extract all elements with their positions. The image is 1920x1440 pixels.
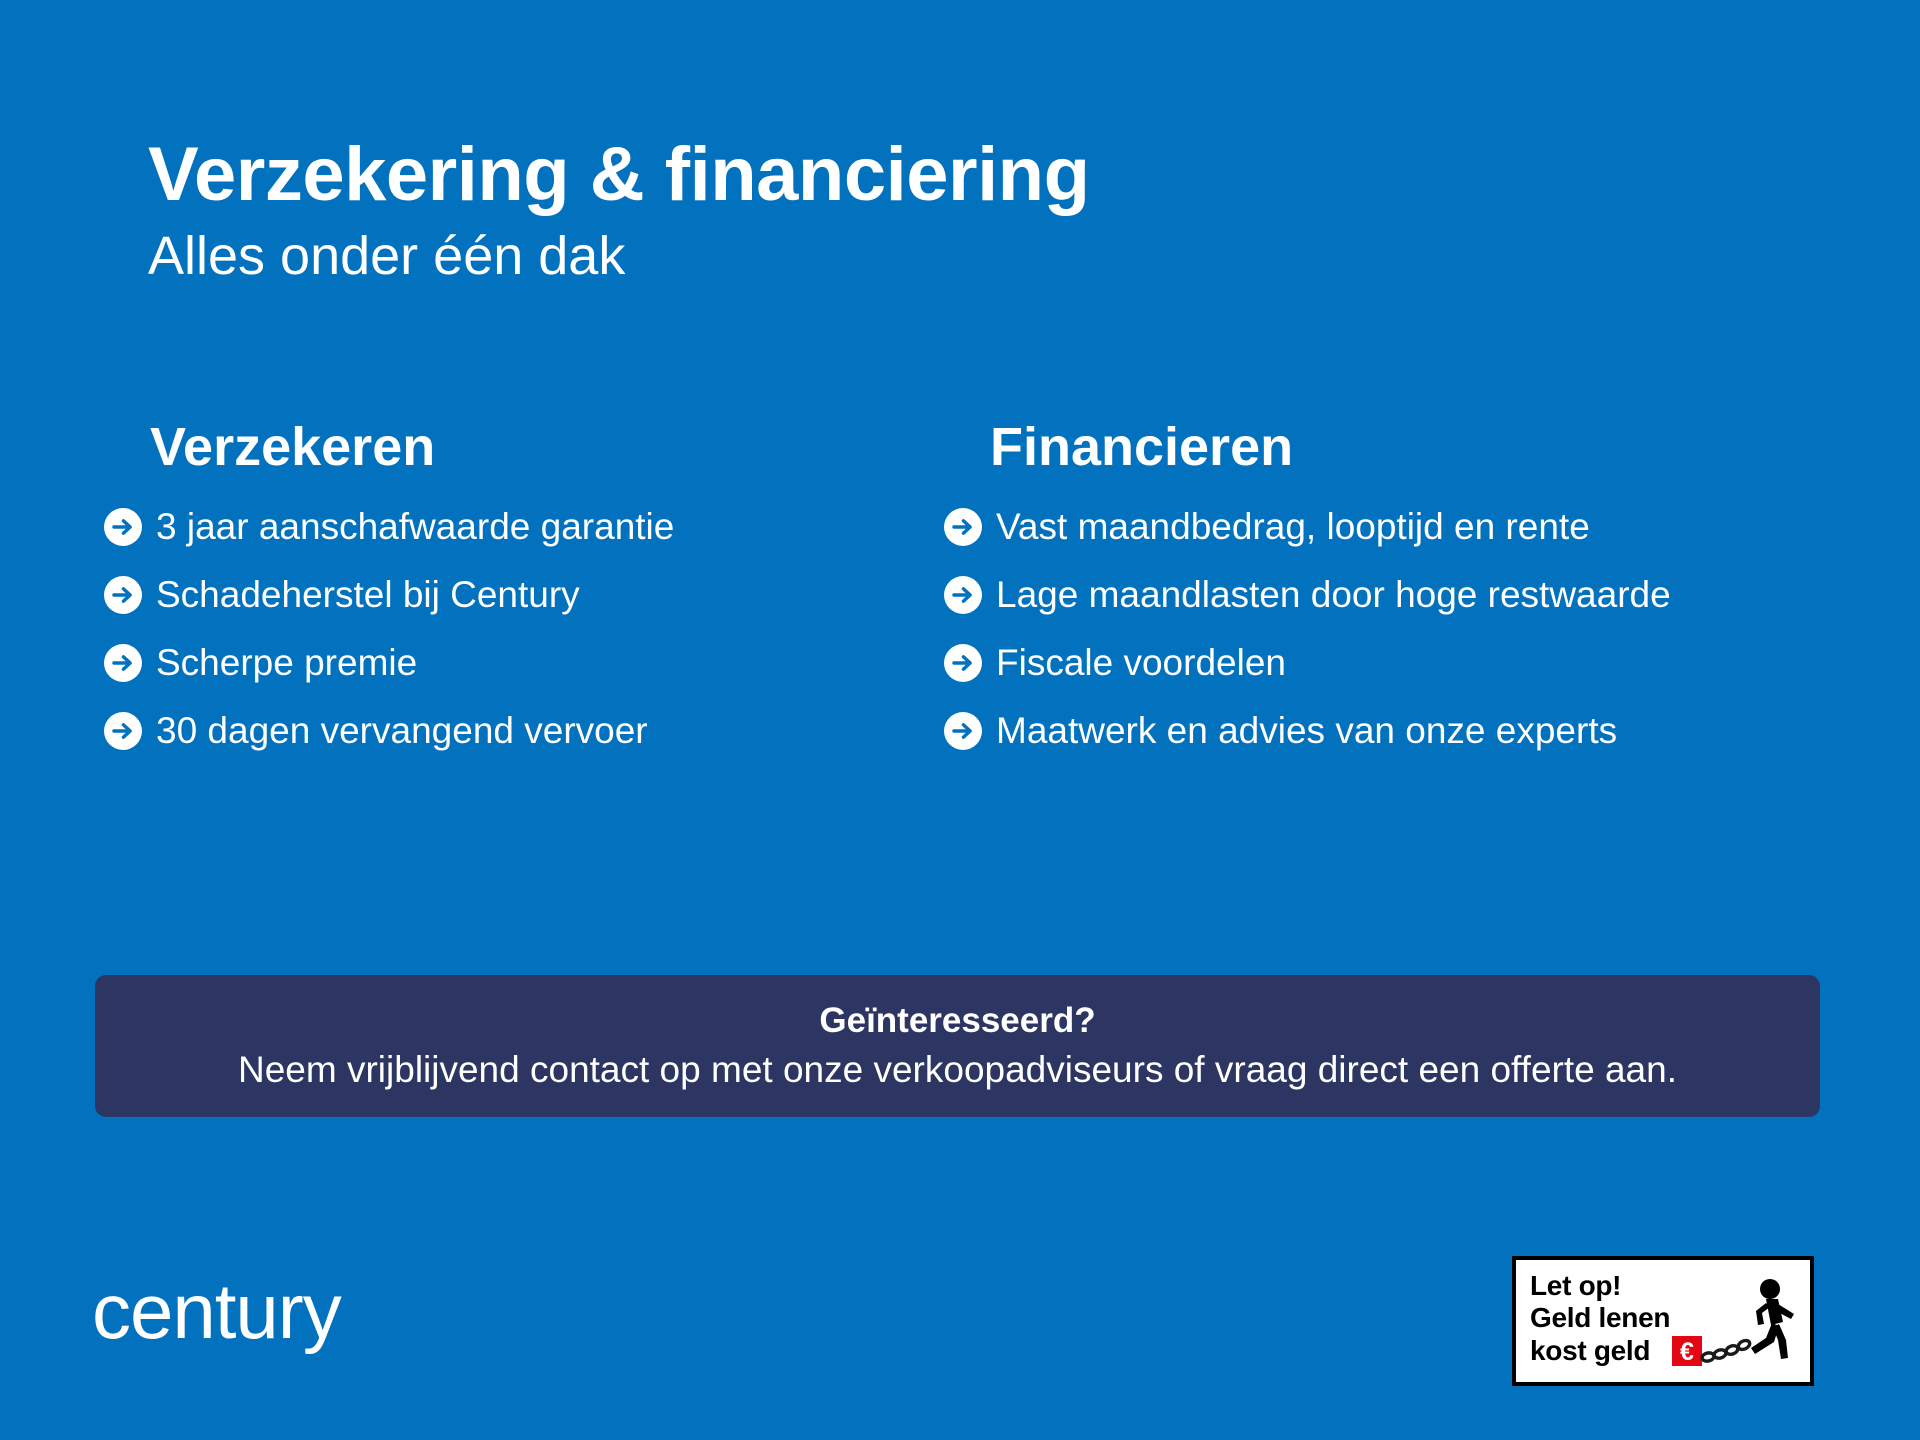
afm-warning-text: Let op! Geld lenen kost geld: [1530, 1270, 1670, 1367]
bullet-list-financieren: Vast maandbedrag, looptijd en rente Lage…: [990, 506, 1920, 753]
list-item-label: Vast maandbedrag, looptijd en rente: [996, 506, 1590, 549]
arrow-circle-right-icon: [944, 576, 982, 614]
arrow-circle-right-icon: [944, 508, 982, 546]
list-item-label: Scherpe premie: [156, 642, 417, 685]
arrow-circle-right-icon: [944, 712, 982, 750]
cta-banner[interactable]: Geïnteresseerd? Neem vrijblijvend contac…: [95, 975, 1820, 1117]
column-financieren: Financieren Vast maandbedrag, looptijd e…: [845, 420, 1920, 753]
afm-warning-line1: Let op!: [1530, 1270, 1621, 1301]
afm-warning-line2: Geld lenen: [1530, 1302, 1670, 1333]
list-item: 30 dagen vervangend vervoer: [104, 710, 845, 753]
century-logo: century: [92, 1272, 341, 1350]
arrow-circle-right-icon: [944, 644, 982, 682]
column-heading-verzekeren: Verzekeren: [150, 420, 845, 474]
afm-warning-line3: kost geld: [1530, 1335, 1650, 1366]
list-item: Fiscale voordelen: [944, 642, 1920, 685]
list-item: Vast maandbedrag, looptijd en rente: [944, 506, 1920, 549]
list-item: Scherpe premie: [104, 642, 845, 685]
slide-root: Verzekering & financiering Alles onder é…: [0, 0, 1920, 1440]
page-title: Verzekering & financiering: [148, 136, 1788, 214]
arrow-circle-right-icon: [104, 712, 142, 750]
list-item: Lage maandlasten door hoge restwaarde: [944, 574, 1920, 617]
afm-warning-box: Let op! Geld lenen kost geld €: [1512, 1256, 1814, 1386]
list-item: 3 jaar aanschafwaarde garantie: [104, 506, 845, 549]
arrow-circle-right-icon: [104, 508, 142, 546]
list-item-label: Maatwerk en advies van onze experts: [996, 710, 1617, 753]
bullet-list-verzekeren: 3 jaar aanschafwaarde garantie Schadeher…: [150, 506, 845, 753]
list-item-label: 30 dagen vervangend vervoer: [156, 710, 648, 753]
list-item: Schadeherstel bij Century: [104, 574, 845, 617]
list-item-label: Schadeherstel bij Century: [156, 574, 580, 617]
arrow-circle-right-icon: [104, 576, 142, 614]
cta-title: Geïnteresseerd?: [819, 1000, 1095, 1042]
header: Verzekering & financiering Alles onder é…: [148, 136, 1788, 286]
column-heading-financieren: Financieren: [990, 420, 1920, 474]
afm-warning-inner: Let op! Geld lenen kost geld €: [1516, 1260, 1810, 1382]
column-verzekeren: Verzekeren 3 jaar aanschafwaarde garanti…: [0, 420, 845, 753]
list-item-label: Fiscale voordelen: [996, 642, 1286, 685]
page-subtitle: Alles onder één dak: [148, 226, 1788, 286]
feature-columns: Verzekeren 3 jaar aanschafwaarde garanti…: [0, 420, 1920, 753]
list-item-label: 3 jaar aanschafwaarde garantie: [156, 506, 674, 549]
arrow-circle-right-icon: [104, 644, 142, 682]
walking-person-with-euro-ball-and-chain-icon: €: [1670, 1276, 1806, 1380]
list-item: Maatwerk en advies van onze experts: [944, 710, 1920, 753]
svg-text:€: €: [1680, 1338, 1694, 1366]
cta-text: Neem vrijblijvend contact op met onze ve…: [238, 1048, 1677, 1092]
list-item-label: Lage maandlasten door hoge restwaarde: [996, 574, 1671, 617]
